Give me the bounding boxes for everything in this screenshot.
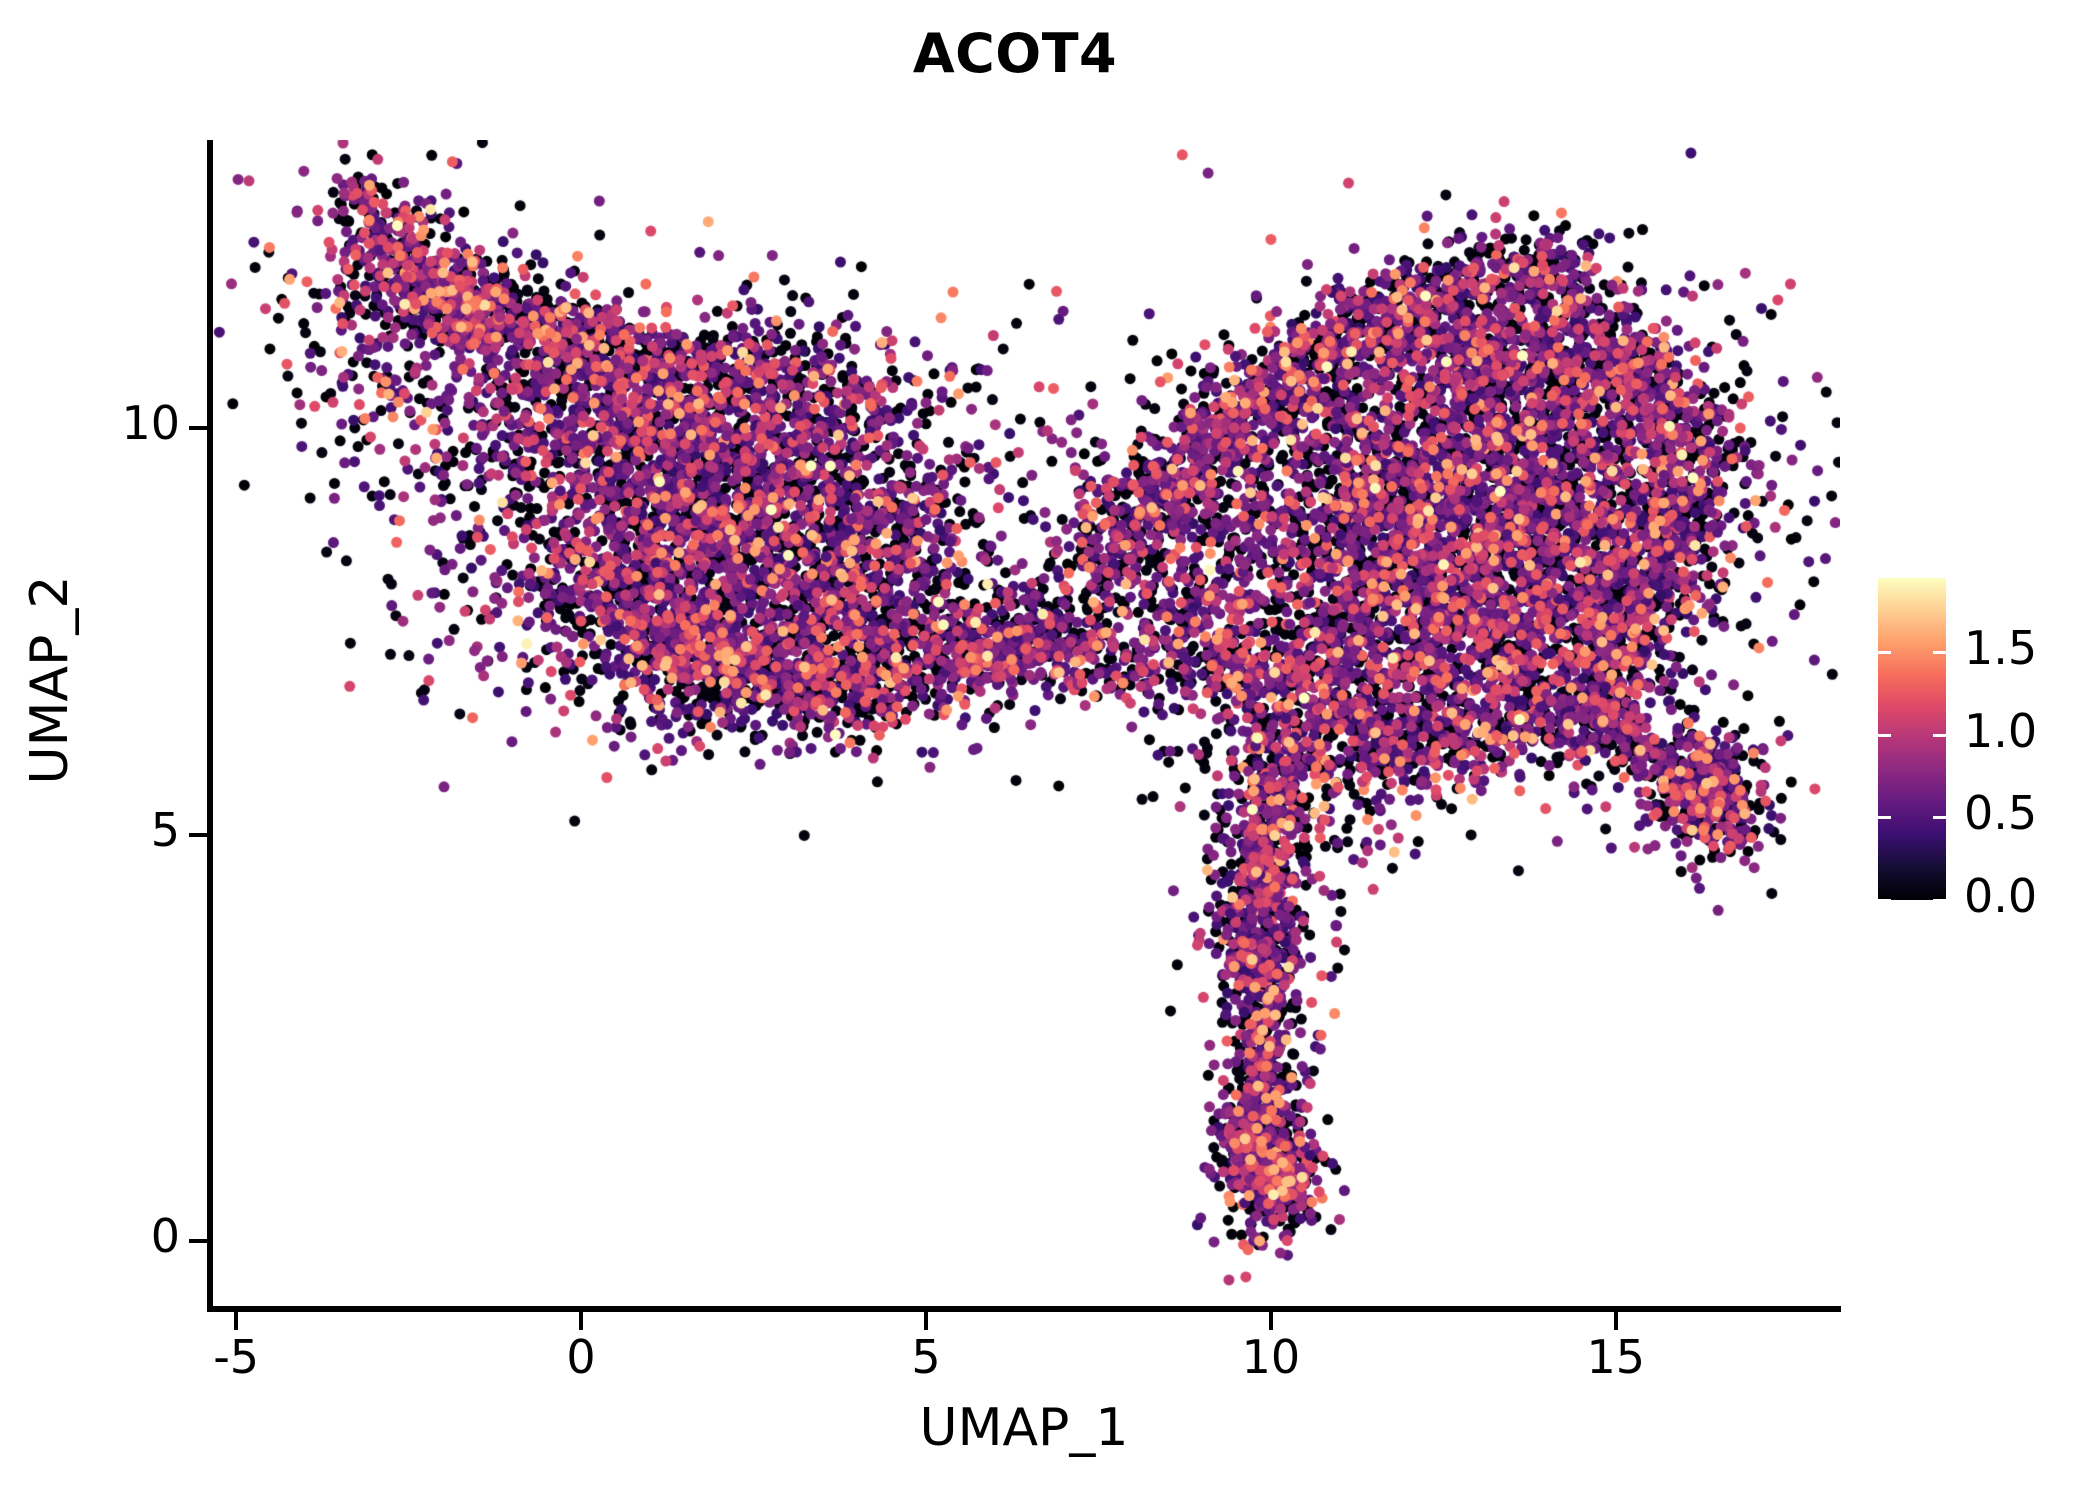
- scatter-points-canvas: [212, 140, 1840, 1310]
- y-axis-spine: [207, 140, 213, 1312]
- colorbar-tick-mark: [1878, 899, 1946, 902]
- x-axis-label: UMAP_1: [207, 1398, 1841, 1458]
- x-tick-label: 0: [501, 1330, 661, 1384]
- x-tick-label: -5: [156, 1330, 316, 1384]
- colorbar-tick-label: 1.0: [1964, 704, 2100, 758]
- x-tick-mark: [924, 1312, 928, 1330]
- x-tick-mark: [1614, 1312, 1618, 1330]
- x-tick-mark: [1269, 1312, 1273, 1330]
- page-title: ACOT4: [0, 22, 2030, 85]
- colorbar-legend: 0.00.51.01.5: [1878, 578, 2098, 908]
- x-tick-mark: [234, 1312, 238, 1330]
- umap-feature-plot: ACOT4 -5051015 0510 UMAP_1 UMAP_2 0.00.5…: [0, 0, 2100, 1500]
- x-axis-spine: [207, 1306, 1841, 1312]
- plot-area: [212, 140, 1840, 1310]
- x-tick-mark: [579, 1312, 583, 1330]
- y-tick-mark: [189, 426, 207, 430]
- y-tick-label: 0: [0, 1209, 180, 1263]
- colorbar-tick-mark: [1878, 651, 1946, 654]
- y-tick-mark: [189, 1239, 207, 1243]
- colorbar-gradient: [1878, 578, 1946, 900]
- y-axis-label: UMAP_2: [20, 330, 80, 1030]
- x-tick-label: 5: [846, 1330, 1006, 1384]
- colorbar-tick-mark: [1878, 734, 1946, 737]
- x-tick-label: 15: [1536, 1330, 1696, 1384]
- colorbar-tick-mark: [1878, 816, 1946, 819]
- colorbar-tick-label: 0.5: [1964, 786, 2100, 840]
- colorbar-tick-label: 1.5: [1964, 621, 2100, 675]
- x-tick-label: 10: [1191, 1330, 1351, 1384]
- colorbar-tick-label: 0.0: [1964, 869, 2100, 923]
- y-tick-mark: [189, 833, 207, 837]
